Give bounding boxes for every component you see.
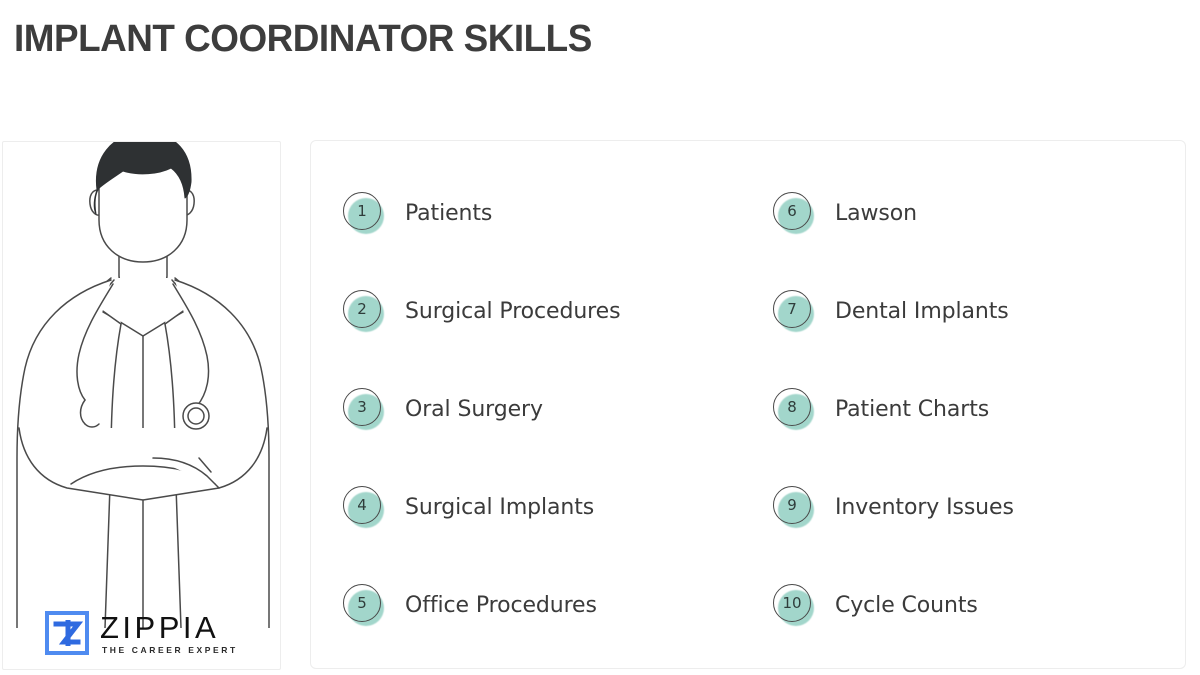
skill-badge-4: 4: [339, 483, 387, 531]
skill-number-4: 4: [343, 486, 381, 524]
skill-label-8: Patient Charts: [835, 397, 989, 422]
skill-number-8: 8: [773, 388, 811, 426]
skills-column-left: 1 Patients 2 Surgical Procedures 3 Oral …: [339, 141, 759, 668]
page-title: IMPLANT COORDINATOR SKILLS: [14, 18, 592, 61]
skill-item-5[interactable]: 5 Office Procedures: [339, 579, 597, 631]
illustration-panel: [2, 141, 281, 670]
skill-item-3[interactable]: 3 Oral Surgery: [339, 383, 543, 435]
skill-badge-6: 6: [769, 189, 817, 237]
zippia-logo[interactable]: ZIPPIA THE CAREER EXPERT: [44, 610, 238, 656]
skill-number-10: 10: [773, 584, 811, 622]
skill-number-5: 5: [343, 584, 381, 622]
skill-badge-2: 2: [339, 287, 387, 335]
skill-item-1[interactable]: 1 Patients: [339, 187, 492, 239]
skill-item-6[interactable]: 6 Lawson: [769, 187, 917, 239]
skill-label-9: Inventory Issues: [835, 495, 1014, 520]
skill-badge-8: 8: [769, 385, 817, 433]
skill-badge-7: 7: [769, 287, 817, 335]
skill-number-7: 7: [773, 290, 811, 328]
skill-badge-9: 9: [769, 483, 817, 531]
skill-label-4: Surgical Implants: [405, 495, 594, 520]
skills-column-right: 6 Lawson 7 Dental Implants 8 Patient Cha…: [769, 141, 1189, 668]
skill-item-10[interactable]: 10 Cycle Counts: [769, 579, 978, 631]
doctor-illustration-icon: [2, 141, 281, 628]
skill-badge-3: 3: [339, 385, 387, 433]
skill-label-10: Cycle Counts: [835, 593, 978, 618]
skill-number-2: 2: [343, 290, 381, 328]
skill-item-2[interactable]: 2 Surgical Procedures: [339, 285, 620, 337]
skill-number-9: 9: [773, 486, 811, 524]
skill-badge-1: 1: [339, 189, 387, 237]
skill-item-9[interactable]: 9 Inventory Issues: [769, 481, 1014, 533]
zippia-tagline: THE CAREER EXPERT: [102, 646, 238, 655]
skill-number-3: 3: [343, 388, 381, 426]
skills-panel: 1 Patients 2 Surgical Procedures 3 Oral …: [310, 140, 1186, 669]
skill-label-7: Dental Implants: [835, 299, 1009, 324]
skill-item-4[interactable]: 4 Surgical Implants: [339, 481, 594, 533]
zippia-z-mark-icon: [44, 610, 90, 656]
skill-badge-10: 10: [769, 581, 817, 629]
skill-label-6: Lawson: [835, 201, 917, 226]
zippia-wordmark: ZIPPIA: [100, 612, 238, 643]
skill-label-2: Surgical Procedures: [405, 299, 620, 324]
skill-item-8[interactable]: 8 Patient Charts: [769, 383, 989, 435]
skill-number-1: 1: [343, 192, 381, 230]
skill-label-1: Patients: [405, 201, 492, 226]
skill-label-5: Office Procedures: [405, 593, 597, 618]
skill-label-3: Oral Surgery: [405, 397, 543, 422]
skill-badge-5: 5: [339, 581, 387, 629]
skill-item-7[interactable]: 7 Dental Implants: [769, 285, 1009, 337]
skill-number-6: 6: [773, 192, 811, 230]
